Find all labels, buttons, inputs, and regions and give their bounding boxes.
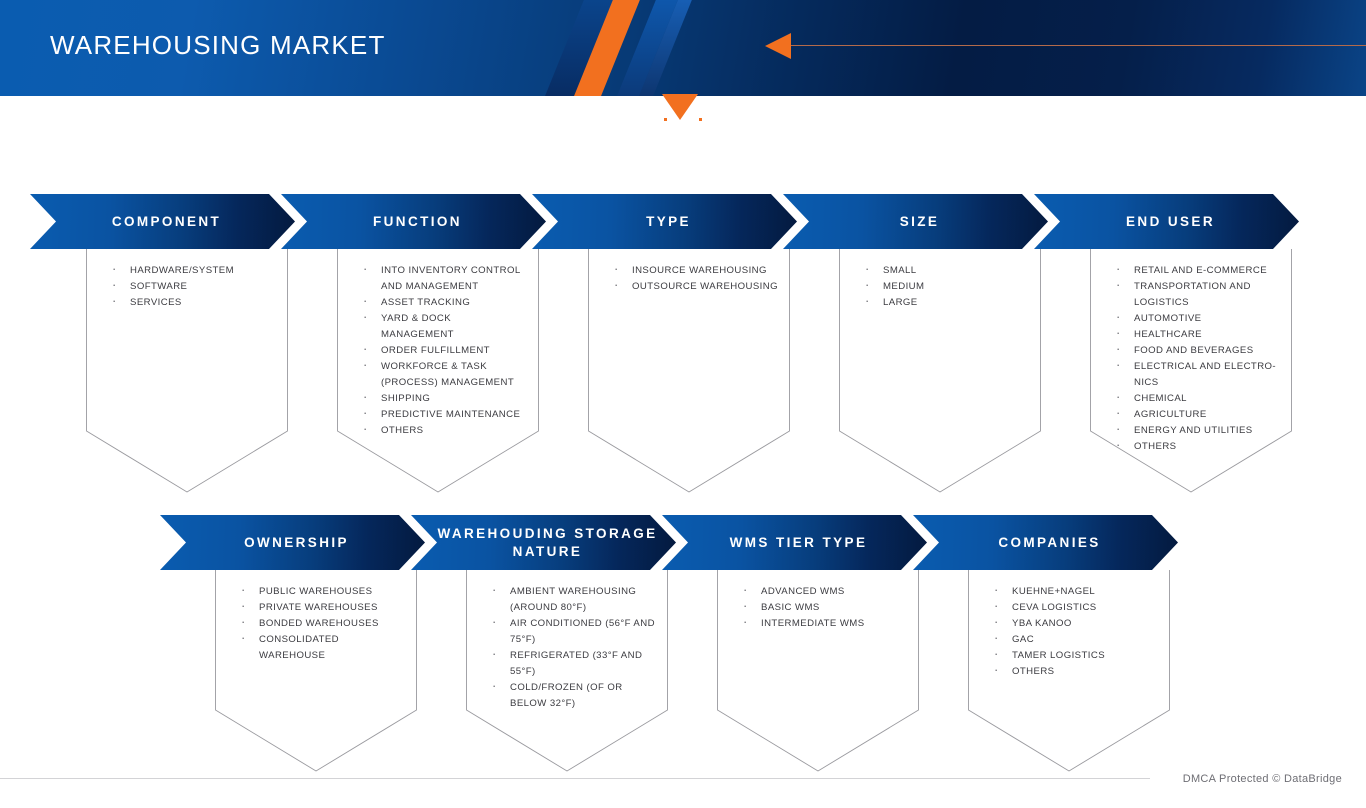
segment-row1-header-2[interactable]: FUNCTION [281, 194, 546, 249]
segment-item-list: INTO INVENTORY CONTROL AND MANAGEMENTASS… [337, 249, 539, 439]
list-item: AGRICULTURE [1110, 407, 1280, 423]
left-arrow-icon [765, 33, 791, 59]
list-item: HARDWARE/SYSTEM [106, 263, 276, 279]
segment-row2-header-4[interactable]: COMPANIES [913, 515, 1178, 570]
list-item: SERVICES [106, 295, 276, 311]
segment-item-list: RETAIL AND E-COMMERCETRANSPORTATION AND … [1090, 249, 1292, 455]
list-item: PRIVATE WAREHOUSES [235, 600, 405, 616]
orange-pointer-icon [662, 94, 698, 120]
list-item: LARGE [859, 295, 1029, 311]
segment-row2-header-1[interactable]: OWNERSHIP [160, 515, 425, 570]
segment-label: FUNCTION [373, 213, 462, 231]
list-item: HEALTHCARE [1110, 327, 1280, 343]
segment-row1-panel-1: HARDWARE/SYSTEMSOFTWARESERVICES [86, 249, 288, 493]
segment-label: OWNERSHIP [244, 534, 349, 552]
segment-row1-header-5[interactable]: END USER [1034, 194, 1299, 249]
list-item: PUBLIC WAREHOUSES [235, 584, 405, 600]
list-item: ORDER FULFILLMENT [357, 343, 527, 359]
list-item: BASIC WMS [737, 600, 907, 616]
segment-row1-panel-3: INSOURCE WAREHOUSINGOUTSOURCE WAREHOUSIN… [588, 249, 790, 493]
segment-item-list: INSOURCE WAREHOUSINGOUTSOURCE WAREHOUSIN… [588, 249, 790, 295]
list-item: OTHERS [1110, 439, 1280, 455]
list-item: MEDIUM [859, 279, 1029, 295]
segment-row2-panel-2: AMBIENT WAREHOUSING (AROUND 80°F)AIR CON… [466, 570, 668, 772]
segment-row1-header-4[interactable]: SIZE [783, 194, 1048, 249]
list-item: OTHERS [357, 423, 527, 439]
list-item: KUEHNE+NAGEL [988, 584, 1158, 600]
segment-item-list: KUEHNE+NAGELCEVA LOGISTICSYBA KANOOGACTA… [968, 570, 1170, 680]
list-item: REFRIGERATED (33°F AND 55°F) [486, 648, 656, 680]
segment-item-list: AMBIENT WAREHOUSING (AROUND 80°F)AIR CON… [466, 570, 668, 712]
segment-label: COMPANIES [998, 534, 1100, 552]
list-item: AMBIENT WAREHOUSING (AROUND 80°F) [486, 584, 656, 616]
list-item: BONDED WAREHOUSES [235, 616, 405, 632]
list-item: AIR CONDITIONED (56°F AND 75°F) [486, 616, 656, 648]
segment-label: SIZE [900, 213, 940, 231]
header-arrow-line [790, 45, 1366, 46]
list-item: OUTSOURCE WAREHOUSING [608, 279, 778, 295]
list-item: COLD/FROZEN (OF OR BELOW 32°F) [486, 680, 656, 712]
segment-row2-panel-3: ADVANCED WMSBASIC WMSINTERMEDIATE WMS [717, 570, 919, 772]
list-item: CONSOLIDATED WAREHOUSE [235, 632, 405, 664]
list-item: GAC [988, 632, 1158, 648]
list-item: INTO INVENTORY CONTROL AND MANAGEMENT [357, 263, 527, 295]
page-title: WAREHOUSING MARKET [50, 30, 386, 61]
segment-row1-panel-5: RETAIL AND E-COMMERCETRANSPORTATION AND … [1090, 249, 1292, 493]
segment-label: TYPE [646, 213, 691, 231]
list-item: TAMER LOGISTICS [988, 648, 1158, 664]
segment-label: COMPONENT [112, 213, 221, 231]
list-item: CEVA LOGISTICS [988, 600, 1158, 616]
page-header-banner: WAREHOUSING MARKET [0, 0, 1366, 96]
list-item: SHIPPING [357, 391, 527, 407]
list-item: CHEMICAL [1110, 391, 1280, 407]
segment-row2-header-2[interactable]: WAREHOUDING STORAGE NATURE [411, 515, 676, 570]
list-item: SOFTWARE [106, 279, 276, 295]
list-item: INSOURCE WAREHOUSING [608, 263, 778, 279]
segment-item-list: ADVANCED WMSBASIC WMSINTERMEDIATE WMS [717, 570, 919, 632]
list-item: ENERGY AND UTILITIES [1110, 423, 1280, 439]
segment-row1-panel-2: INTO INVENTORY CONTROL AND MANAGEMENTASS… [337, 249, 539, 493]
list-item: PREDICTIVE MAINTENANCE [357, 407, 527, 423]
segment-label: WMS TIER TYPE [730, 534, 868, 552]
segment-row1-header-1[interactable]: COMPONENT [30, 194, 295, 249]
list-item: YBA KANOO [988, 616, 1158, 632]
list-item: INTERMEDIATE WMS [737, 616, 907, 632]
list-item: RETAIL AND E-COMMERCE [1110, 263, 1280, 279]
spark-dot-right-icon [699, 118, 702, 121]
segment-label: END USER [1126, 213, 1215, 231]
list-item: FOOD AND BEVERAGES [1110, 343, 1280, 359]
list-item: YARD & DOCK MANAGEMENT [357, 311, 527, 343]
list-item: WORKFORCE & TASK (PROCESS) MANAGEMENT [357, 359, 527, 391]
segment-item-list: PUBLIC WAREHOUSESPRIVATE WAREHOUSESBONDE… [215, 570, 417, 664]
segment-item-list: SMALLMEDIUMLARGE [839, 249, 1041, 311]
segment-row2-header-3[interactable]: WMS TIER TYPE [662, 515, 927, 570]
segment-label: WAREHOUDING STORAGE NATURE [429, 525, 666, 561]
segment-row2-panel-1: PUBLIC WAREHOUSESPRIVATE WAREHOUSESBONDE… [215, 570, 417, 772]
list-item: OTHERS [988, 664, 1158, 680]
segment-item-list: HARDWARE/SYSTEMSOFTWARESERVICES [86, 249, 288, 311]
list-item: ELECTRICAL AND ELECTRO-NICS [1110, 359, 1280, 391]
list-item: ASSET TRACKING [357, 295, 527, 311]
segment-row2-panel-4: KUEHNE+NAGELCEVA LOGISTICSYBA KANOOGACTA… [968, 570, 1170, 772]
list-item: SMALL [859, 263, 1029, 279]
list-item: AUTOMOTIVE [1110, 311, 1280, 327]
list-item: ADVANCED WMS [737, 584, 907, 600]
footer-credit: DMCA Protected © DataBridge [1183, 773, 1342, 785]
segment-row1-panel-4: SMALLMEDIUMLARGE [839, 249, 1041, 493]
segment-row1-header-3[interactable]: TYPE [532, 194, 797, 249]
list-item: TRANSPORTATION AND LOGISTICS [1110, 279, 1280, 311]
footer-divider [0, 778, 1150, 779]
